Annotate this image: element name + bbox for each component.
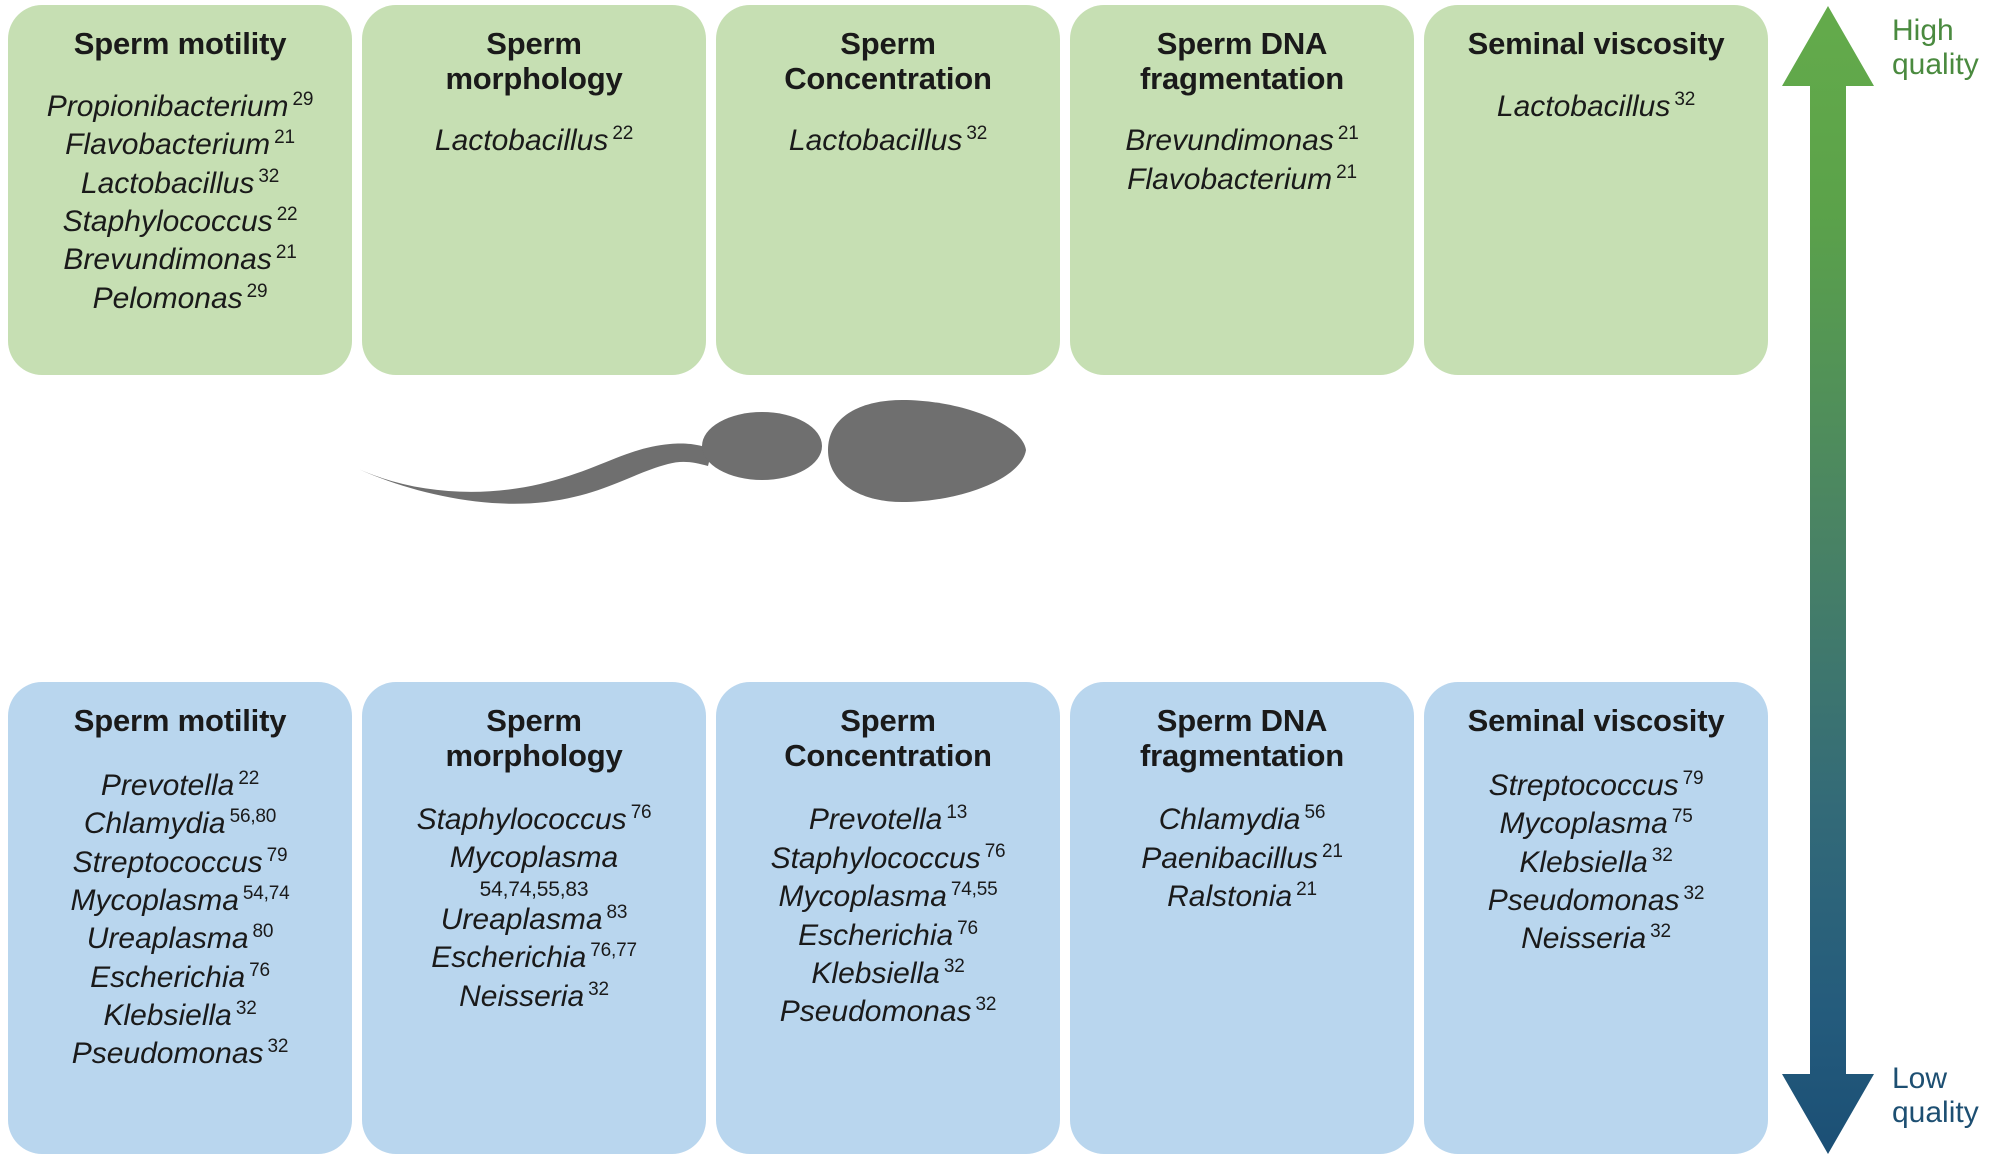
organism-reference-numbers: 76 <box>985 841 1006 862</box>
organism-name: Ralstonia <box>1167 880 1292 913</box>
sperm-cell-illustration <box>350 398 1030 508</box>
organism-name: Lactobacillus <box>435 124 608 157</box>
organism-name: Chlamydia <box>84 807 226 840</box>
low-quality-label-line2: quality <box>1892 1096 1979 1129</box>
organism-reference-numbers: 32 <box>944 956 965 977</box>
organism-entry: Klebsiella32 <box>726 955 1050 993</box>
organism-reference-numbers: 56,80 <box>230 806 277 827</box>
quality-gradient-arrow <box>1778 2 1878 1158</box>
figure-canvas: Sperm motilityPropionibacterium29Flavoba… <box>0 0 2000 1160</box>
organism-reference-numbers: 79 <box>1683 768 1704 789</box>
card-title: Sperm Concentration <box>749 704 1028 773</box>
high-quality-card: Sperm morphologyLactobacillus22 <box>362 5 706 375</box>
organism-reference-numbers: 21 <box>1336 162 1357 183</box>
organism-reference-numbers: 21 <box>274 127 295 148</box>
organism-name: Escherichia <box>431 941 586 974</box>
organism-reference-numbers: 76 <box>631 802 652 823</box>
organism-reference-numbers: 74,55 <box>951 879 998 900</box>
organism-reference-numbers: 76 <box>249 960 270 981</box>
card-title: Sperm Concentration <box>749 27 1028 96</box>
organism-entry: Mycoplasma74,55 <box>726 878 1050 916</box>
organism-name: Neisseria <box>459 980 584 1013</box>
organism-entry: Chlamydia56 <box>1080 801 1404 839</box>
organism-reference-numbers: 32 <box>258 166 279 187</box>
organism-reference-numbers: 21 <box>276 242 297 263</box>
organism-name: Prevotella <box>101 769 234 802</box>
organism-name: Flavobacterium <box>1127 163 1332 196</box>
low-quality-card: Sperm ConcentrationPrevotella13Staphyloc… <box>716 682 1060 1154</box>
organism-entry: Propionibacterium29 <box>18 88 342 126</box>
sperm-midpiece <box>702 412 822 480</box>
organism-entry: Mycoplasma75 <box>1434 805 1758 843</box>
organism-name: Neisseria <box>1521 922 1646 955</box>
organism-entry: Pseudomonas32 <box>726 993 1050 1031</box>
organism-entry: Ureaplasma83 <box>372 901 696 939</box>
organism-reference-numbers: 75 <box>1672 806 1693 827</box>
organism-entry: Chlamydia56,80 <box>18 805 342 843</box>
low-quality-label: Low quality <box>1892 1062 2000 1129</box>
organism-entry: Pseudomonas32 <box>1434 882 1758 920</box>
card-title: Sperm DNA fragmentation <box>1103 704 1382 773</box>
organism-list: Lactobacillus22 <box>372 122 696 160</box>
organism-reference-numbers: 32 <box>1674 89 1695 110</box>
organism-entry: Paenibacillus21 <box>1080 840 1404 878</box>
organism-reference-numbers: 32 <box>976 994 997 1015</box>
low-quality-card-row: Sperm motilityPrevotella22Chlamydia56,80… <box>8 682 1768 1154</box>
organism-reference-numbers: 83 <box>607 902 628 923</box>
sperm-head <box>828 400 1026 502</box>
organism-reference-numbers: 32 <box>236 998 257 1019</box>
organism-list: Prevotella13Staphylococcus76Mycoplasma74… <box>726 801 1050 1031</box>
organism-list: Chlamydia56Paenibacillus21Ralstonia21 <box>1080 801 1404 916</box>
organism-name: Flavobacterium <box>65 128 270 161</box>
organism-name: Mycoplasma <box>1499 807 1667 840</box>
low-quality-card: Sperm DNA fragmentationChlamydia56Paenib… <box>1070 682 1414 1154</box>
card-title: Seminal viscosity <box>1468 27 1725 62</box>
high-quality-card-row: Sperm motilityPropionibacterium29Flavoba… <box>8 5 1768 375</box>
card-title: Sperm DNA fragmentation <box>1103 27 1382 96</box>
organism-list: Streptococcus79Mycoplasma75Klebsiella32P… <box>1434 767 1758 959</box>
organism-entry: Brevundimonas21 <box>18 241 342 279</box>
organism-entry: Ralstonia21 <box>1080 878 1404 916</box>
organism-entry: Staphylococcus22 <box>18 203 342 241</box>
organism-name: Staphylococcus <box>417 803 627 836</box>
card-title: Sperm motility <box>74 704 287 739</box>
organism-reference-numbers: 32 <box>588 979 609 1000</box>
organism-reference-numbers: 22 <box>238 768 259 789</box>
organism-entry: Lactobacillus32 <box>1434 88 1758 126</box>
organism-reference-numbers: 32 <box>268 1036 289 1057</box>
organism-name: Streptococcus <box>1489 769 1679 802</box>
organism-list: Prevotella22Chlamydia56,80Streptococcus7… <box>18 767 342 1074</box>
card-title: Sperm morphology <box>395 27 674 96</box>
organism-name: Pseudomonas <box>72 1037 264 1070</box>
organism-name: Paenibacillus <box>1141 842 1318 875</box>
organism-entry: Prevotella22 <box>18 767 342 805</box>
organism-reference-numbers: 22 <box>612 123 633 144</box>
arrow-up-down-shape <box>1782 6 1874 1154</box>
organism-entry: Ureaplasma80 <box>18 920 342 958</box>
organism-list: Lactobacillus32 <box>726 122 1050 160</box>
card-title: Sperm motility <box>74 27 287 62</box>
organism-name: Klebsiella <box>811 957 939 990</box>
card-title: Sperm morphology <box>395 704 674 773</box>
organism-name: Klebsiella <box>103 999 231 1032</box>
organism-name: Propionibacterium <box>47 90 289 123</box>
organism-entry: Klebsiella32 <box>18 997 342 1035</box>
organism-name: Klebsiella <box>1519 846 1647 879</box>
organism-reference-numbers: 29 <box>247 281 268 302</box>
organism-name: Streptococcus <box>73 846 263 879</box>
organism-name: Brevundimonas <box>1125 124 1333 157</box>
high-quality-label-line1: High <box>1892 14 1954 47</box>
organism-entry: Mycoplasma54,74 <box>18 882 342 920</box>
organism-reference-numbers: 56 <box>1305 802 1326 823</box>
organism-name: Ureaplasma <box>441 903 603 936</box>
organism-entry: Pelomonas29 <box>18 280 342 318</box>
organism-name: Pseudomonas <box>1488 884 1680 917</box>
organism-name: Brevundimonas <box>63 243 271 276</box>
organism-list: Staphylococcus76Mycoplasma54,74,55,83Ure… <box>372 801 696 1016</box>
organism-reference-numbers: 76,77 <box>590 940 637 961</box>
low-quality-card: Seminal viscosityStreptococcus79Mycoplas… <box>1424 682 1768 1154</box>
high-quality-label: High quality <box>1892 14 2000 81</box>
organism-name: Mycoplasma <box>779 880 947 913</box>
organism-reference-numbers: 21 <box>1338 123 1359 144</box>
organism-name: Pseudomonas <box>780 995 972 1028</box>
organism-entry: Streptococcus79 <box>1434 767 1758 805</box>
low-quality-card: Sperm motilityPrevotella22Chlamydia56,80… <box>8 682 352 1154</box>
organism-entry: Staphylococcus76 <box>726 840 1050 878</box>
organism-name: Staphylococcus <box>63 205 273 238</box>
high-quality-card: Seminal viscosityLactobacillus32 <box>1424 5 1768 375</box>
organism-entry: Pseudomonas32 <box>18 1035 342 1073</box>
organism-reference-numbers: 54,74 <box>243 883 290 904</box>
organism-entry: Lactobacillus32 <box>726 122 1050 160</box>
organism-name: Lactobacillus <box>1497 90 1670 123</box>
organism-entry: Lactobacillus22 <box>372 122 696 160</box>
organism-reference-numbers: 22 <box>277 204 298 225</box>
organism-entry: Mycoplasma54,74,55,83 <box>372 840 696 901</box>
organism-entry: Neisseria32 <box>1434 920 1758 958</box>
organism-reference-numbers: 32 <box>1650 921 1671 942</box>
sperm-tail <box>352 443 712 503</box>
organism-entry: Staphylococcus76 <box>372 801 696 839</box>
organism-reference-numbers: 32 <box>1684 883 1705 904</box>
card-title: Seminal viscosity <box>1468 704 1725 739</box>
organism-reference-numbers: 54,74,55,83 <box>372 878 696 901</box>
high-quality-card: Sperm ConcentrationLactobacillus32 <box>716 5 1060 375</box>
high-quality-card: Sperm DNA fragmentationBrevundimonas21Fl… <box>1070 5 1414 375</box>
organism-name: Ureaplasma <box>87 922 249 955</box>
organism-entry: Klebsiella32 <box>1434 844 1758 882</box>
organism-entry: Brevundimonas21 <box>1080 122 1404 160</box>
organism-name: Mycoplasma <box>71 884 239 917</box>
organism-entry: Neisseria32 <box>372 978 696 1016</box>
low-quality-label-line1: Low <box>1892 1062 1947 1095</box>
organism-name: Escherichia <box>798 919 953 952</box>
organism-name: Staphylococcus <box>771 842 981 875</box>
organism-entry: Prevotella13 <box>726 801 1050 839</box>
organism-name: Lactobacillus <box>789 124 962 157</box>
organism-name: Prevotella <box>809 803 942 836</box>
organism-list: Brevundimonas21Flavobacterium21 <box>1080 122 1404 199</box>
organism-reference-numbers: 80 <box>253 921 274 942</box>
organism-name: Chlamydia <box>1159 803 1301 836</box>
low-quality-card: Sperm morphologyStaphylococcus76Mycoplas… <box>362 682 706 1154</box>
organism-name: Pelomonas <box>93 282 243 315</box>
organism-entry: Escherichia76 <box>726 917 1050 955</box>
organism-reference-numbers: 21 <box>1322 841 1343 862</box>
organism-name: Mycoplasma <box>450 841 618 874</box>
organism-entry: Flavobacterium21 <box>18 126 342 164</box>
organism-entry: Streptococcus79 <box>18 844 342 882</box>
organism-name: Lactobacillus <box>81 167 254 200</box>
organism-reference-numbers: 32 <box>1652 845 1673 866</box>
organism-reference-numbers: 32 <box>966 123 987 144</box>
organism-entry: Escherichia76 <box>18 959 342 997</box>
organism-list: Lactobacillus32 <box>1434 88 1758 126</box>
organism-reference-numbers: 76 <box>957 918 978 939</box>
organism-entry: Lactobacillus32 <box>18 165 342 203</box>
organism-reference-numbers: 13 <box>946 802 967 823</box>
organism-entry: Escherichia76,77 <box>372 939 696 977</box>
organism-reference-numbers: 29 <box>293 89 314 110</box>
high-quality-label-line2: quality <box>1892 48 1979 81</box>
organism-name: Escherichia <box>90 961 245 994</box>
organism-reference-numbers: 21 <box>1296 879 1317 900</box>
organism-entry: Flavobacterium21 <box>1080 161 1404 199</box>
high-quality-card: Sperm motilityPropionibacterium29Flavoba… <box>8 5 352 375</box>
organism-reference-numbers: 79 <box>267 845 288 866</box>
organism-list: Propionibacterium29Flavobacterium21Lacto… <box>18 88 342 318</box>
